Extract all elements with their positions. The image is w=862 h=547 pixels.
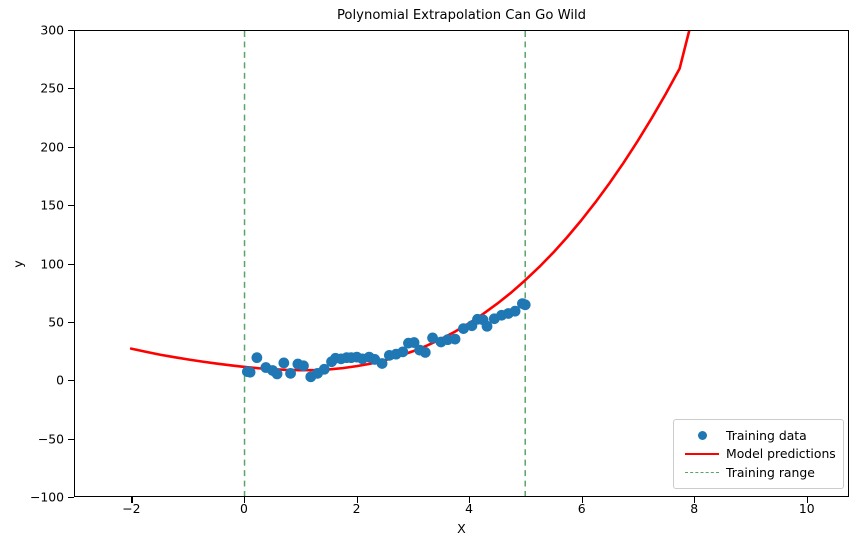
- legend-label: Training data: [726, 428, 807, 443]
- x-tick-label: −2: [101, 501, 161, 516]
- y-tick-label: 50: [0, 314, 64, 329]
- legend-label: Model predictions: [726, 446, 836, 461]
- x-tick-label: 2: [327, 501, 387, 516]
- y-tick-label: 300: [0, 23, 64, 38]
- y-tick-mark: [68, 380, 74, 381]
- data-point: [278, 358, 289, 369]
- x-tick-mark: [244, 497, 245, 503]
- x-tick-label: 10: [777, 501, 837, 516]
- y-tick-mark: [68, 147, 74, 148]
- x-tick-mark: [807, 497, 808, 503]
- x-tick-mark: [131, 497, 132, 503]
- data-point: [377, 358, 388, 369]
- y-tick-label: −100: [0, 490, 64, 505]
- solid-line-icon: [682, 445, 722, 463]
- legend-label: Training range: [726, 465, 815, 480]
- data-point: [520, 299, 531, 310]
- x-tick-mark: [582, 497, 583, 503]
- y-tick-mark: [68, 264, 74, 265]
- y-tick-mark: [68, 439, 74, 440]
- y-tick-mark: [68, 30, 74, 31]
- y-tick-mark: [68, 88, 74, 89]
- x-tick-label: 8: [664, 501, 724, 516]
- x-tick-label: 4: [439, 501, 499, 516]
- dashed-line-icon: [682, 463, 722, 481]
- y-tick-mark: [68, 322, 74, 323]
- x-tick-label: 6: [552, 501, 612, 516]
- matplotlib-figure: Polynomial Extrapolation Can Go Wild y X…: [0, 0, 862, 547]
- x-tick-mark: [357, 497, 358, 503]
- x-tick-mark: [469, 497, 470, 503]
- x-axis-label: X: [74, 521, 849, 536]
- chart-legend[interactable]: Training data Model predictions Training…: [673, 419, 844, 489]
- y-tick-label: −50: [0, 431, 64, 446]
- prediction-line: [131, 31, 689, 370]
- x-tick-label: 0: [214, 501, 274, 516]
- data-point: [298, 360, 309, 371]
- data-point: [450, 334, 461, 345]
- y-tick-label: 150: [0, 198, 64, 213]
- y-tick-label: 200: [0, 139, 64, 154]
- page-title: Polynomial Extrapolation Can Go Wild: [74, 6, 849, 26]
- legend-item-training-data: Training data: [682, 426, 835, 445]
- legend-item-training-range: Training range: [682, 463, 835, 482]
- model-prediction-curve: [131, 31, 689, 370]
- marker-dot-icon: [682, 426, 722, 444]
- y-tick-mark: [68, 497, 74, 498]
- y-tick-label: 250: [0, 81, 64, 96]
- y-tick-label: 0: [0, 373, 64, 388]
- y-tick-label: 100: [0, 256, 64, 271]
- data-point: [245, 367, 256, 378]
- data-point: [285, 368, 296, 379]
- data-point: [272, 369, 283, 380]
- training-range-vlines: [245, 31, 526, 496]
- y-tick-mark: [68, 205, 74, 206]
- data-point: [251, 352, 262, 363]
- x-tick-mark: [694, 497, 695, 503]
- data-point: [420, 347, 431, 358]
- legend-item-model-predictions: Model predictions: [682, 445, 835, 464]
